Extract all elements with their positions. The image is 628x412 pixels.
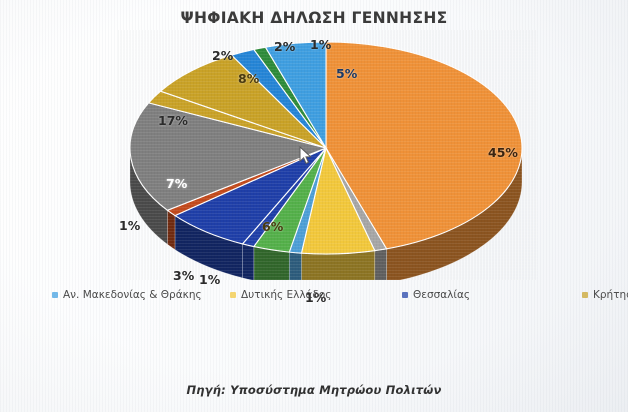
legend-item-label: Αν. Μακεδονίας & Θράκης [63,289,202,301]
pie-percentage-label: 7% [166,176,187,191]
pie-slice-wall [243,244,254,280]
legend-swatch [402,292,408,298]
pie-percentage-label: 1% [119,218,140,233]
pie-slice-wall [289,252,301,280]
pie-top-faces: Αττικής 45%Βορείου Αιγαίου 1%Δυτικής Ελλ… [130,42,522,254]
legend-swatch [230,292,236,298]
legend-swatch [52,292,58,298]
mouse-pointer-icon [299,146,312,165]
legend-item-label: Δυτικής Ελλάδος [241,289,331,301]
chart-stage: ΨΗΦΙΑΚΗ ΔΗΛΩΣΗ ΓΕΝΝΗΣΗΣ Αττικής 45%Βορεί… [0,0,628,412]
page-title: ΨΗΦΙΑΚΗ ΔΗΛΩΣΗ ΓΕΝΝΗΣΗΣ [0,9,628,27]
pie-percentage-label: 8% [238,71,259,86]
pie-percentage-label: 6% [262,219,283,234]
pie-chart-svg: Αττικής 45%Βορείου Αιγαίου 1%Δυτικής Ελλ… [118,30,538,280]
pie-slice-wall [167,210,175,249]
pie-chart: Αττικής 45%Βορείου Αιγαίου 1%Δυτικής Ελλ… [118,30,538,280]
legend-item[interactable]: Κρήτης [582,286,628,303]
pie-percentage-label: 5% [336,66,357,81]
pie-slice-wall [301,251,374,280]
legend-item[interactable]: Θεσσαλίας [402,286,582,303]
legend-item[interactable]: Αν. Μακεδονίας & Θράκης [52,286,230,303]
pie-percentage-label: 17% [158,113,188,128]
legend-item-label: Κρήτης [593,289,628,301]
pie-percentage-label: 1% [310,37,331,52]
pie-percentage-label: 1% [199,272,220,287]
pie-percentage-label: 45% [488,145,518,160]
pie-percentage-label: 2% [274,39,295,54]
chart-legend: Αν. Μακεδονίας & ΘράκηςΔυτικής ΕλλάδοςΘε… [52,286,592,303]
pie-percentage-label: 2% [212,48,233,63]
source-note: Πηγή: Υποσύστημα Μητρώου Πολιτών [0,383,628,397]
legend-item-label: Θεσσαλίας [413,289,470,301]
legend-swatch [582,292,588,298]
legend-item[interactable]: Δυτικής Ελλάδος [230,286,402,303]
pie-slice-wall [375,249,387,280]
pie-percentage-label: 3% [173,268,194,283]
